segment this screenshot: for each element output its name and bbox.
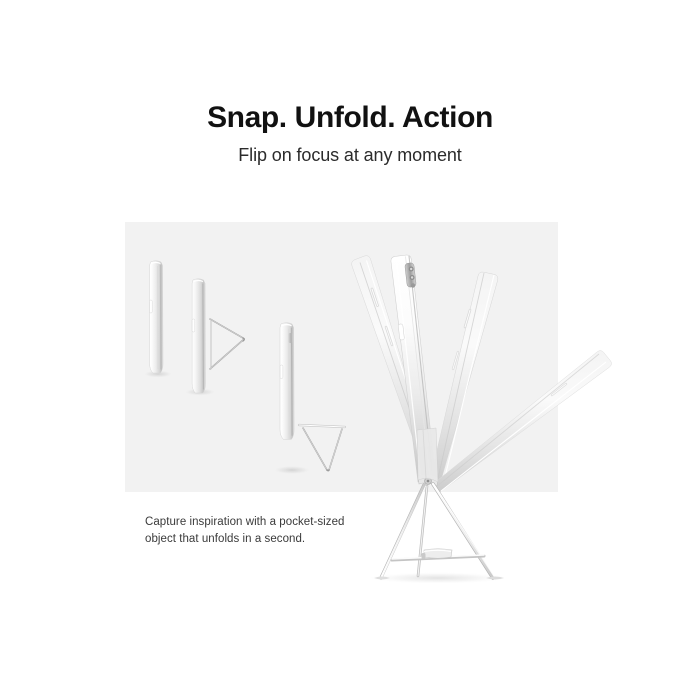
product-hero-panel: [125, 222, 558, 492]
hero-slide: Snap. Unfold. Action Flip on focus at an…: [0, 0, 700, 700]
tripod-stand: [374, 484, 504, 580]
hero-caption: Capture inspiration with a pocket-sized …: [145, 514, 345, 549]
tripod-leg-left: [381, 485, 426, 578]
page-subtitle: Flip on focus at any moment: [0, 144, 700, 167]
tripod-crossbar: [392, 549, 484, 560]
page-title: Snap. Unfold. Action: [0, 101, 700, 135]
tripod-leg-right: [433, 484, 495, 578]
